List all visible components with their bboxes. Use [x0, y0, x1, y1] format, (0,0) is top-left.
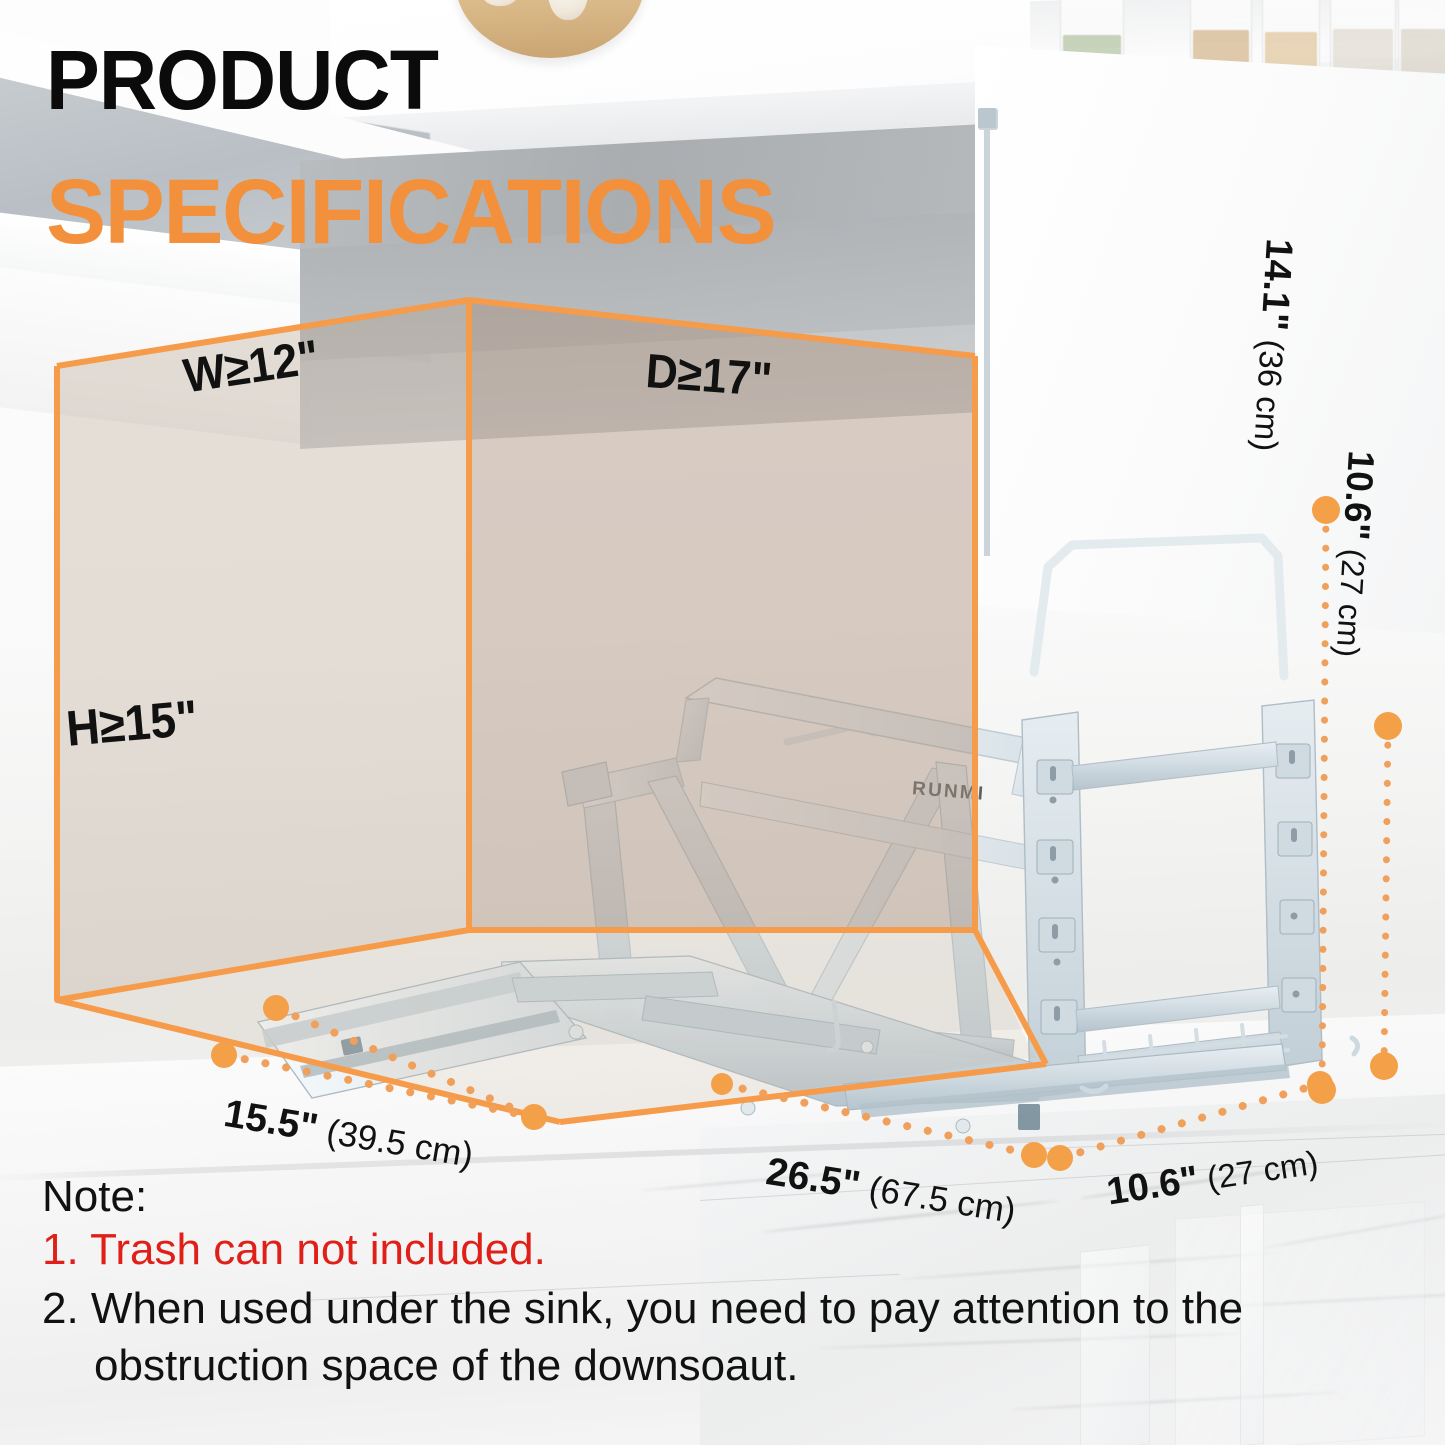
note-item-2-line-b: obstruction space of the downsoaut. [42, 1337, 1442, 1394]
product-specification-image: RUNMI [0, 0, 1445, 1445]
note-item-2-line-a: 2. When used under the sink, you need to… [42, 1284, 1243, 1333]
notes-block: Note: 1. Trash can not included. 2. When… [42, 1172, 1442, 1394]
page-title-line2: SPECIFICATIONS [46, 168, 775, 256]
page-title-line1: PRODUCT [46, 40, 438, 121]
notes-title: Note: [42, 1172, 1442, 1221]
basket-rails [1072, 742, 1282, 1074]
measurement-frame-height-inches: 10.6" [1336, 449, 1382, 541]
measurement-frame-height-metric: (27 cm) [1329, 548, 1372, 658]
top-connector [978, 108, 998, 556]
measurement-overall-height-inches: 14.1" [1252, 237, 1300, 331]
note-item-1: 1. Trash can not included. [42, 1225, 1442, 1276]
measurement-overall-height-metric: (36 cm) [1247, 339, 1291, 453]
wire-handle [1034, 538, 1284, 676]
label-cabinet-depth: D≥17" [644, 344, 774, 408]
note-item-2: 2. When used under the sink, you need to… [42, 1280, 1442, 1394]
label-cabinet-height: H≥15" [64, 689, 200, 758]
